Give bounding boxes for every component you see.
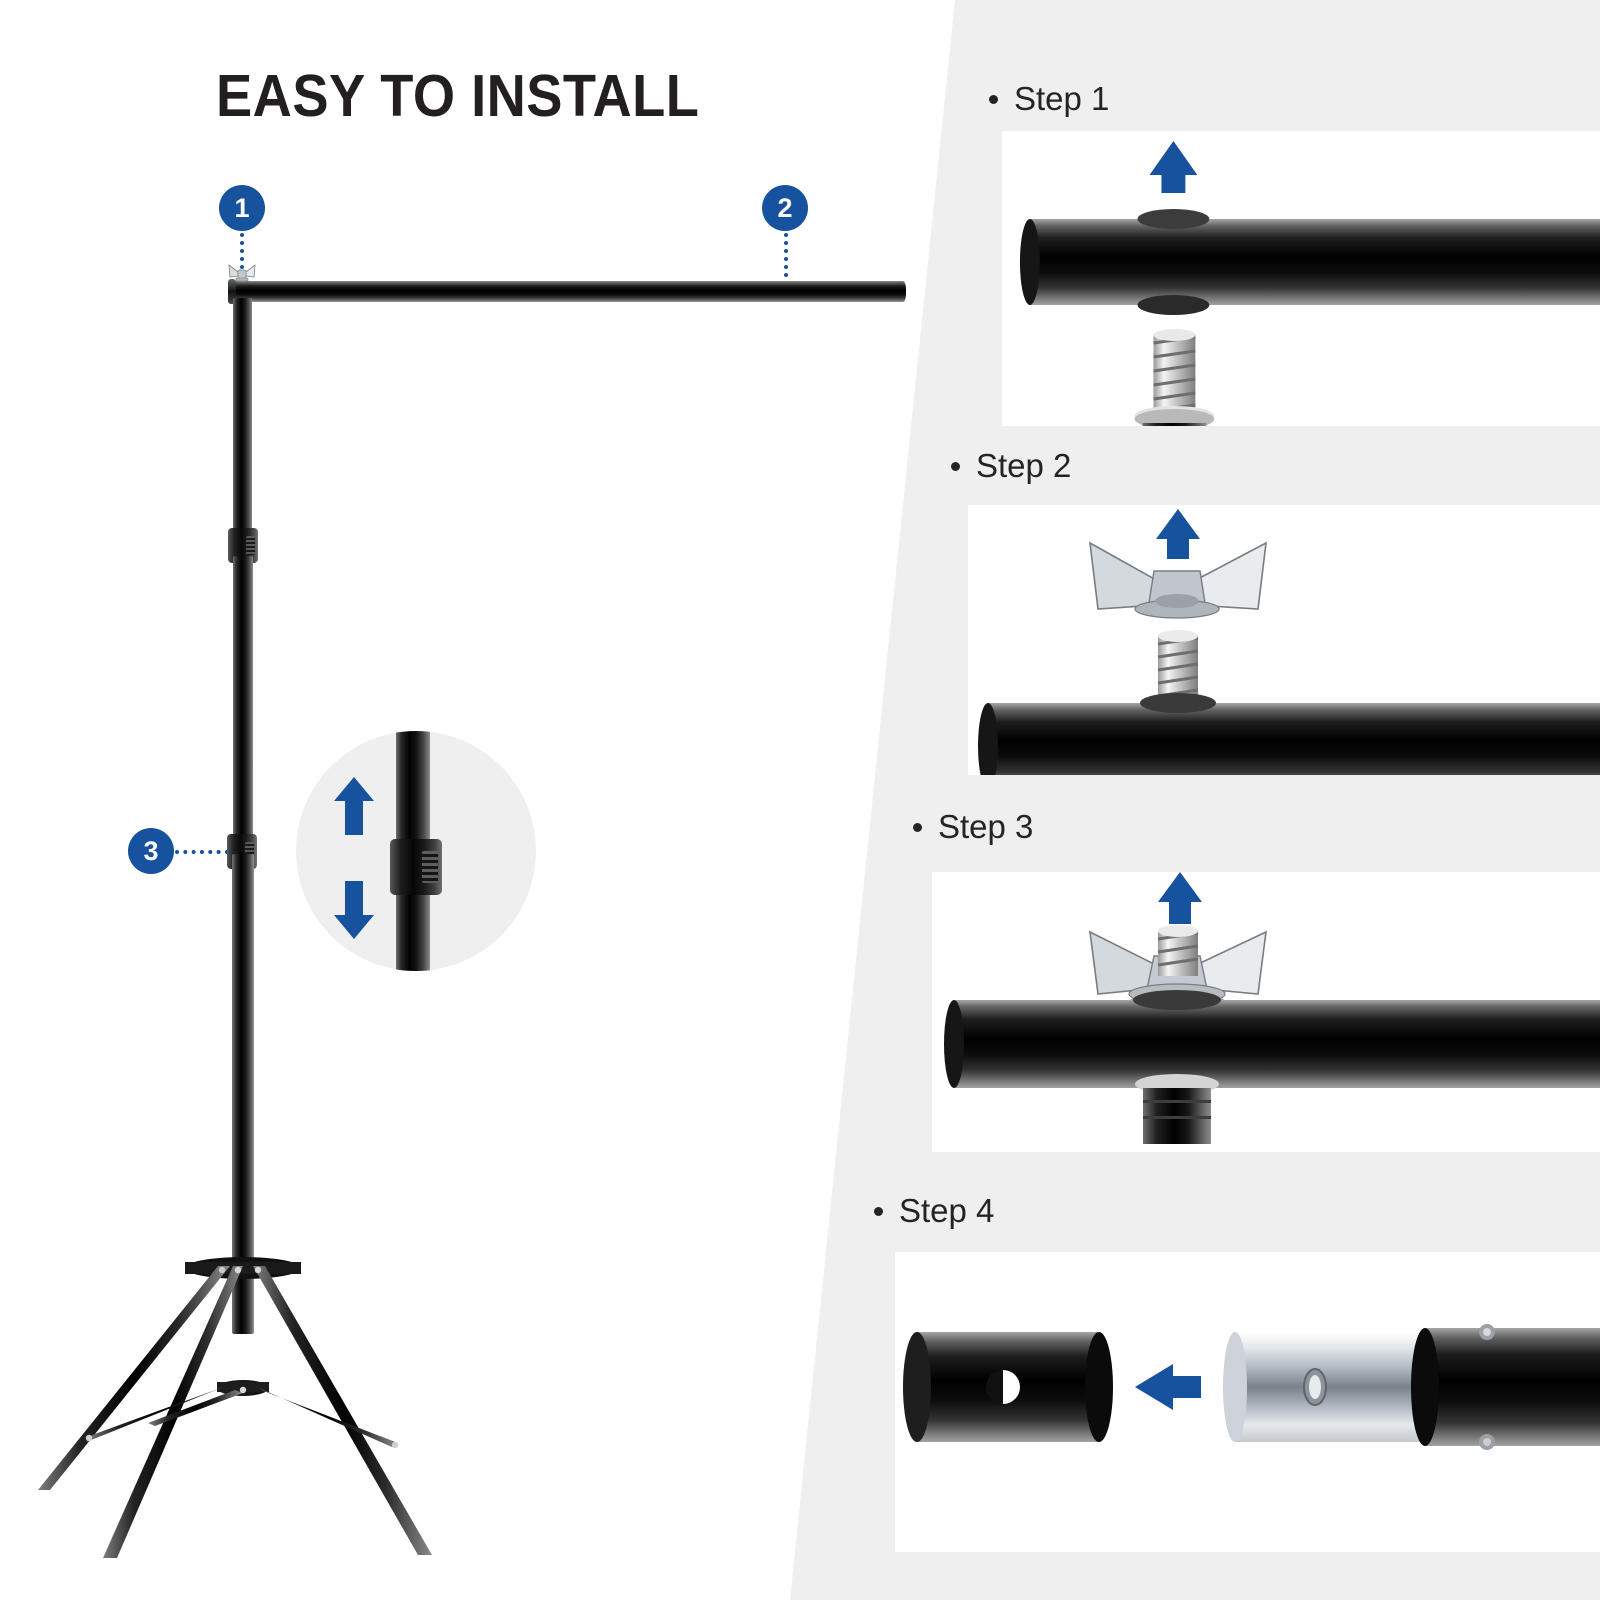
wing-nut-icon xyxy=(1090,543,1266,618)
pole-upper-section xyxy=(233,298,252,558)
callout-leader-3 xyxy=(175,850,229,854)
step-bullet-icon xyxy=(989,95,998,104)
step-2-label: Step 2 xyxy=(951,447,1071,485)
callout-leader-2 xyxy=(784,233,788,285)
chrome-connector xyxy=(1235,1332,1435,1442)
magnified-twist-lock-collar xyxy=(390,839,442,895)
step-bullet-icon xyxy=(874,1207,883,1216)
step-bullet-icon xyxy=(951,462,960,471)
step-4-label: Step 4 xyxy=(874,1192,994,1230)
down-arrow-icon xyxy=(1150,141,1198,193)
left-arrow-icon xyxy=(1135,1364,1201,1410)
step-1-card xyxy=(1002,131,1600,426)
down-arrow-icon xyxy=(1156,509,1200,559)
black-tube-socket xyxy=(903,1332,1113,1442)
step-4-card xyxy=(895,1252,1600,1552)
black-tube-right xyxy=(1411,1324,1600,1450)
down-arrow-icon xyxy=(1158,872,1202,924)
callout-badge-2[interactable]: 2 xyxy=(762,185,808,231)
threaded-post xyxy=(1135,329,1215,426)
step-4-illustration xyxy=(895,1252,1600,1552)
down-arrow-icon xyxy=(332,879,376,941)
step-2-card xyxy=(968,505,1600,775)
crossbar-wing-nut-icon xyxy=(228,263,256,283)
step-3-label: Step 3 xyxy=(913,808,1033,846)
step-3-card xyxy=(932,872,1600,1152)
step-1-illustration xyxy=(1002,131,1600,426)
twist-lock-detail-magnifier xyxy=(296,731,536,971)
step-bullet-icon xyxy=(913,823,922,832)
wing-nut-tightened-icon xyxy=(1090,925,1266,1012)
page-title: EASY TO INSTALL xyxy=(216,62,699,130)
threaded-screw xyxy=(1158,630,1198,707)
up-arrow-icon xyxy=(332,775,376,837)
tripod-base xyxy=(0,1240,560,1580)
step-3-illustration xyxy=(932,872,1600,1152)
step-1-label: Step 1 xyxy=(989,80,1109,118)
callout-badge-3[interactable]: 3 xyxy=(128,828,174,874)
callout-badge-1[interactable]: 1 xyxy=(219,185,265,231)
installation-guide-page: EASY TO INSTALL xyxy=(0,0,1600,1600)
horizontal-crossbar xyxy=(228,281,906,302)
pole-stub xyxy=(1143,1088,1211,1144)
pole-middle-section xyxy=(233,556,253,856)
step-2-illustration xyxy=(968,505,1600,775)
